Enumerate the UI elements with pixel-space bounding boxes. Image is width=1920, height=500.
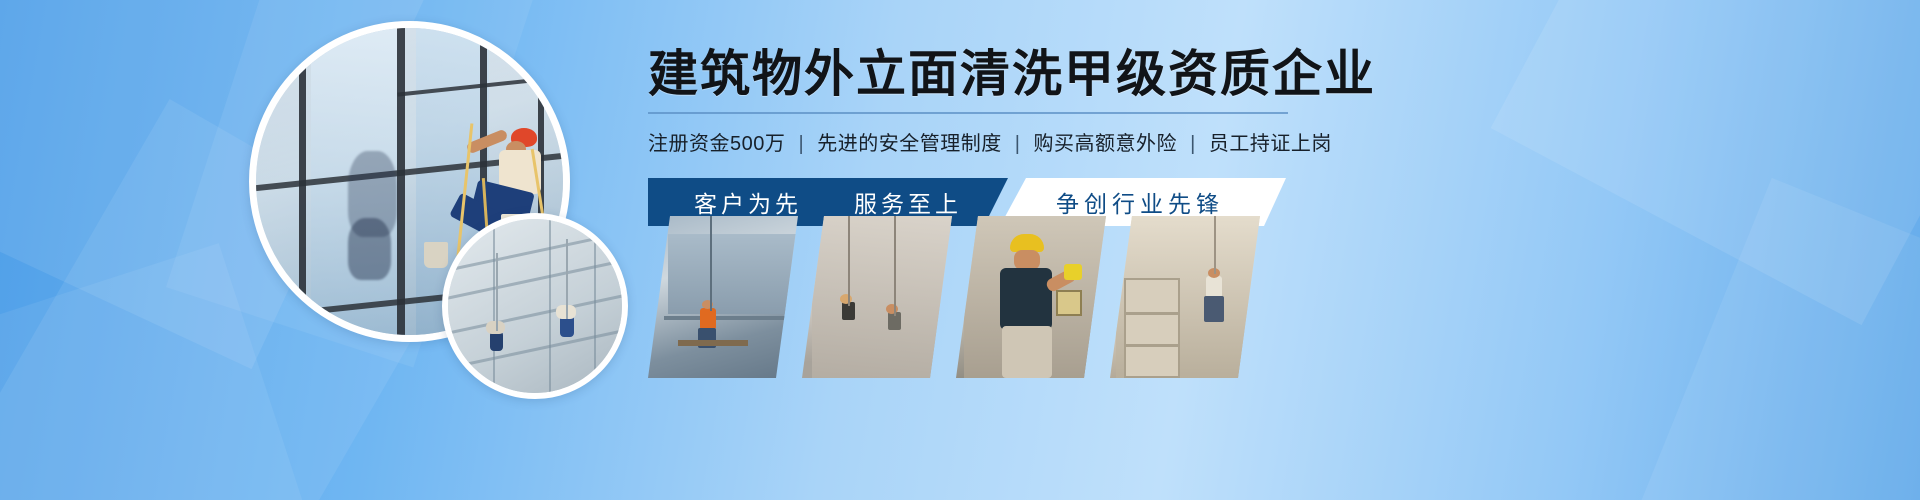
feature-item-3: 购买高额意外险 (1034, 133, 1178, 155)
background-shape (1614, 178, 1920, 500)
title-divider (648, 112, 1288, 114)
orange-vest (700, 308, 716, 330)
feature-separator: | (798, 133, 804, 155)
strip-photo-3 (956, 216, 1106, 378)
feature-item-4: 员工持证上岗 (1209, 133, 1332, 155)
promo-banner: 建筑物外立面清洗甲级资质企业 注册资金500万 | 先进的安全管理制度 | 购买… (0, 0, 1920, 500)
strip-photo-4 (1110, 216, 1260, 378)
metal-facade-illustration (448, 219, 622, 393)
slogan-3: 争创行业先锋 (1056, 185, 1224, 219)
yellow-glove (1064, 264, 1082, 280)
photo-strip (648, 216, 1298, 378)
feature-item-2: 先进的安全管理制度 (817, 133, 1002, 155)
slogan-2: 服务至上 (854, 185, 962, 219)
feature-list: 注册资金500万 | 先进的安全管理制度 | 购买高额意外险 | 员工持证上岗 (648, 127, 1878, 156)
strip-photo-1 (648, 216, 798, 378)
feature-separator: | (1190, 133, 1196, 155)
page-title: 建筑物外立面清洗甲级资质企业 (648, 46, 1878, 102)
banner-content: 建筑物外立面清洗甲级资质企业 注册资金500万 | 先进的安全管理制度 | 购买… (648, 46, 1878, 226)
circle-photo-small (442, 213, 628, 399)
balcony (1124, 278, 1180, 378)
feature-separator: | (1015, 133, 1021, 155)
feature-item-1: 注册资金500万 (648, 133, 785, 155)
strip-photo-2 (802, 216, 952, 378)
slogan-1: 客户为先 (694, 185, 802, 219)
